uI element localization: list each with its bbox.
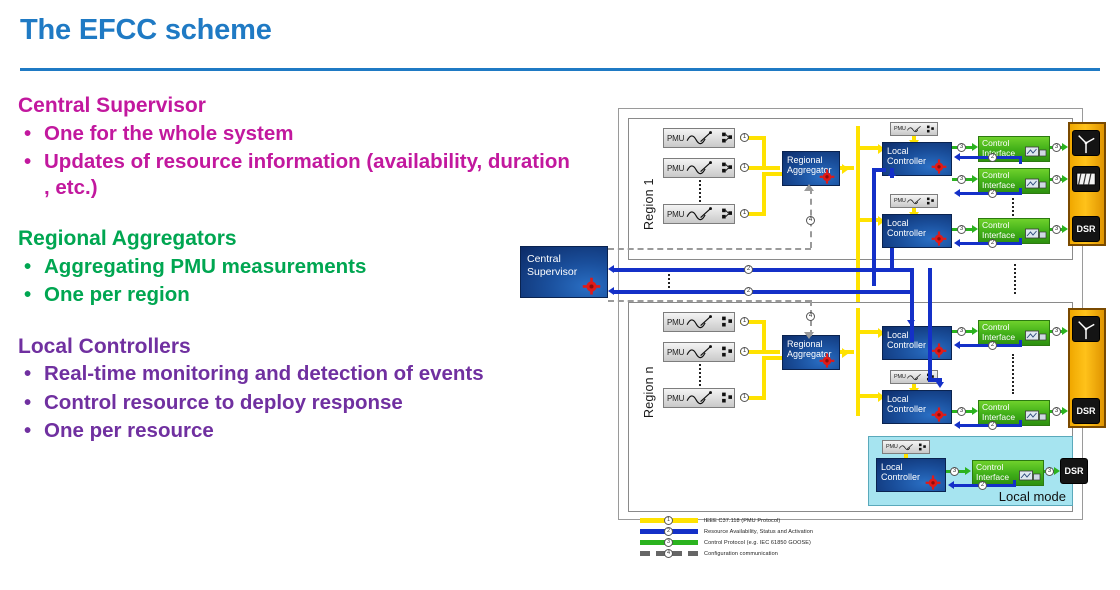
controller-uplink (872, 168, 886, 172)
gear-icon (582, 276, 601, 295)
waveform-icon (906, 123, 927, 135)
badge-control: 3 (957, 175, 966, 184)
legend-swatch-availability: 2 (640, 529, 698, 534)
supervisor-trunk (910, 268, 914, 342)
controller-label-line1: Local (887, 330, 951, 340)
interface-icon (1025, 178, 1047, 191)
bullet-list: • Aggregating PMU measurements • One per… (18, 254, 578, 308)
bullet-text: One per resource (44, 418, 578, 444)
section-local-controllers: Local Controllers • Real-time monitoring… (18, 335, 578, 444)
badge-control: 3 (1052, 327, 1061, 336)
controller-label-line1: Local (881, 462, 945, 472)
availability-arrow (948, 481, 954, 489)
legend-badge: 2 (664, 527, 673, 536)
resource-wind-turbine (1072, 130, 1100, 156)
config-wire-horizontal (608, 248, 811, 250)
interface-icon (1025, 330, 1047, 343)
legend-row: 4 Configuration communication (640, 549, 960, 558)
resource-dsr-local-mode: DSR (1060, 458, 1088, 484)
wind-turbine-icon (1074, 132, 1098, 154)
pmu-device-small: PMU (882, 440, 930, 454)
network-icon (926, 195, 937, 207)
yellow-branch (858, 394, 880, 398)
availability-wire (1019, 156, 1022, 164)
control-arrow (972, 327, 978, 335)
legend-label: Resource Availability, Status and Activa… (704, 529, 813, 535)
legend-label: Configuration communication (704, 551, 778, 557)
gear-icon (925, 474, 941, 490)
config-arrow-down (804, 332, 814, 339)
aggregator-label-line1: Regional (787, 339, 839, 349)
legend-badge: 3 (664, 538, 673, 547)
control-arrow (965, 467, 971, 475)
supervisor-bus-arrow (608, 265, 614, 273)
bullet-dot-icon: • (18, 418, 44, 444)
gear-icon (931, 342, 947, 358)
regional-aggregator-n[interactable]: Regional Aggregator (782, 335, 840, 370)
supervisor-bus-ellipsis (668, 274, 670, 288)
control-arrow (972, 175, 978, 183)
network-icon (721, 205, 734, 223)
badge-control: 3 (1045, 467, 1054, 476)
pmu-link-wire (762, 136, 766, 168)
badge-pmu-link: 1 (740, 163, 749, 172)
waveform-icon (684, 389, 721, 407)
region-ellipsis (1014, 264, 1016, 294)
controller-label-line1: Local (887, 218, 951, 228)
controller-label-line1: Local (887, 394, 951, 404)
local-controller-rn-1[interactable]: Local Controller (882, 326, 952, 360)
resource-dsr: DSR (1072, 398, 1100, 424)
availability-arrow (954, 421, 960, 429)
availability-wire (1019, 188, 1022, 195)
interface-icon (1025, 410, 1047, 423)
yellow-branch (858, 330, 880, 334)
local-mode-label: Local mode (999, 489, 1066, 504)
list-item: • Updates of resource information (avail… (18, 149, 578, 201)
legend-badge: 4 (664, 549, 673, 558)
content-text-column: Central Supervisor • One for the whole s… (18, 94, 578, 462)
supervisor-trunk-arrow (936, 382, 944, 388)
aggregator-out-wire (840, 166, 854, 170)
badge-control: 3 (957, 407, 966, 416)
pmu-device: PMU (663, 388, 735, 408)
bullet-dot-icon: • (18, 254, 44, 280)
waveform-icon (684, 343, 721, 361)
central-supervisor-line1: Central (527, 253, 607, 266)
waveform-icon (898, 441, 919, 453)
waveform-icon (684, 159, 721, 177)
pmu-device: PMU (663, 158, 735, 178)
availability-arrow (954, 341, 960, 349)
pmu-link-wire (762, 320, 766, 352)
interface-ellipsis (1012, 198, 1014, 216)
section-central-supervisor: Central Supervisor • One for the whole s… (18, 94, 578, 201)
bullet-text: One for the whole system (44, 121, 578, 147)
battery-icon (1074, 169, 1098, 189)
interface-ellipsis (1012, 354, 1014, 394)
control-arrow (972, 407, 978, 415)
interface-icon (1025, 146, 1047, 159)
availability-wire (1019, 420, 1022, 427)
pmu-label: PMU (894, 198, 906, 204)
bullet-dot-icon: • (18, 282, 44, 308)
waveform-icon (684, 129, 721, 147)
supervisor-bus-1 (614, 268, 914, 272)
local-controller-r1-2[interactable]: Local Controller (882, 214, 952, 248)
bullet-dot-icon: • (18, 390, 44, 416)
list-item: • Real-time monitoring and detection of … (18, 361, 578, 387)
legend-badge: 1 (664, 516, 673, 525)
list-item: • One per resource (18, 418, 578, 444)
gear-icon (931, 406, 947, 422)
waveform-icon (906, 195, 927, 207)
availability-wire (1013, 480, 1016, 487)
badge-availability: 2 (988, 189, 997, 198)
local-controller-rn-2[interactable]: Local Controller (882, 390, 952, 424)
badge-pmu-link: 1 (740, 209, 749, 218)
pmu-device: PMU (663, 342, 735, 362)
pmu-label: PMU (667, 134, 684, 143)
resource-wind-turbine (1072, 316, 1100, 342)
badge-configuration: 4 (806, 216, 815, 225)
controller-uplink (890, 168, 894, 178)
bullet-list: • One for the whole system • Updates of … (18, 121, 578, 202)
pmu-link-wire (762, 358, 766, 400)
supervisor-trunk-arrow (907, 320, 915, 326)
bullet-list: • Real-time monitoring and detection of … (18, 361, 578, 444)
central-supervisor-box[interactable]: Central Supervisor (520, 246, 608, 298)
interface-icon (1019, 470, 1041, 483)
yellow-branch (858, 146, 880, 150)
list-item: • One for the whole system (18, 121, 578, 147)
legend-swatch-control-protocol: 3 (640, 540, 698, 545)
title-divider (20, 68, 1100, 71)
bullet-text: Aggregating PMU measurements (44, 254, 578, 280)
supervisor-bus-arrow (608, 287, 614, 295)
aggregator-label-line1: Regional (787, 155, 839, 165)
pmu-label: PMU (667, 394, 684, 403)
interface-icon (1025, 228, 1047, 241)
controller-label-line1: Local (887, 146, 951, 156)
legend-row: 2 Resource Availability, Status and Acti… (640, 527, 960, 536)
efcc-architecture-diagram: Region 1 PMU PMU PMU (520, 108, 1105, 568)
legend-swatch-configuration: 4 (640, 551, 698, 556)
badge-control: 3 (1052, 225, 1061, 234)
legend-label: Control Protocol (e.g. IEC 61850 GOOSE) (704, 540, 811, 546)
pmu-link-wire (762, 172, 782, 176)
pmu-label: PMU (886, 444, 898, 450)
badge-availability: 2 (744, 287, 753, 296)
resource-battery (1072, 166, 1100, 192)
legend-row: 3 Control Protocol (e.g. IEC 61850 GOOSE… (640, 538, 960, 547)
waveform-icon (906, 371, 927, 383)
pmu-ellipsis (699, 364, 701, 386)
supervisor-trunk (928, 268, 932, 380)
bullet-dot-icon: • (18, 121, 44, 147)
pmu-label: PMU (667, 210, 684, 219)
resource-dsr: DSR (1072, 216, 1100, 242)
gear-icon (931, 230, 947, 246)
badge-availability: 2 (744, 265, 753, 274)
availability-arrow (954, 153, 960, 161)
badge-control: 3 (957, 143, 966, 152)
local-controller-local-mode[interactable]: Local Controller (876, 458, 946, 492)
yellow-bus (856, 308, 860, 416)
network-icon (926, 123, 937, 135)
legend-row: 1 IEEE C37.118 (PMU Protocol) (640, 516, 960, 525)
network-icon (721, 343, 734, 361)
wind-turbine-icon (1074, 318, 1098, 340)
badge-control: 3 (1052, 143, 1061, 152)
badge-pmu-link: 1 (740, 347, 749, 356)
badge-control: 3 (950, 467, 959, 476)
bullet-text: One per region (44, 282, 578, 308)
gear-icon (819, 168, 835, 184)
regional-aggregator-1[interactable]: Regional Aggregator (782, 151, 840, 186)
list-item: • One per region (18, 282, 578, 308)
badge-control: 3 (1052, 407, 1061, 416)
badge-configuration: 4 (806, 312, 815, 321)
availability-arrow (954, 239, 960, 247)
badge-availability: 2 (988, 153, 997, 162)
page-title: The EFCC scheme (20, 14, 272, 47)
availability-arrow (954, 189, 960, 197)
gear-icon (819, 352, 835, 368)
region-1-label: Region 1 (642, 178, 656, 230)
control-arrow (972, 143, 978, 151)
section-heading: Central Supervisor (18, 94, 578, 119)
list-item: • Aggregating PMU measurements (18, 254, 578, 280)
bullet-text: Real-time monitoring and detection of ev… (44, 361, 578, 387)
config-arrow-up (804, 184, 814, 191)
badge-control: 3 (957, 225, 966, 234)
yellow-branch (858, 218, 880, 222)
yellow-bus (856, 126, 860, 308)
bullet-dot-icon: • (18, 361, 44, 387)
badge-availability: 2 (978, 481, 987, 490)
pmu-link-wire (762, 174, 766, 216)
region-n-label: Region n (642, 366, 656, 418)
network-icon (721, 129, 734, 147)
badge-pmu-link: 1 (740, 317, 749, 326)
badge-availability: 2 (988, 421, 997, 430)
bullet-text: Control resource to deploy response (44, 390, 578, 416)
badge-availability: 2 (988, 341, 997, 350)
badge-control: 3 (957, 327, 966, 336)
pmu-device: PMU (663, 312, 735, 332)
list-item: • Control resource to deploy response (18, 390, 578, 416)
supervisor-trunk (928, 378, 942, 382)
pmu-device: PMU (663, 128, 735, 148)
pmu-ellipsis (699, 180, 701, 202)
legend-swatch-pmu-protocol: 1 (640, 518, 698, 523)
section-heading: Local Controllers (18, 335, 578, 360)
network-icon (721, 389, 734, 407)
availability-wire (1019, 238, 1022, 245)
network-icon (918, 441, 929, 453)
section-regional-aggregators: Regional Aggregators • Aggregating PMU m… (18, 227, 578, 308)
bullet-dot-icon: • (18, 149, 44, 201)
legend: 1 IEEE C37.118 (PMU Protocol) 2 Resource… (640, 516, 960, 560)
pmu-link-wire (762, 356, 782, 360)
pmu-label: PMU (667, 164, 684, 173)
badge-availability: 2 (988, 239, 997, 248)
pmu-device-small: PMU (890, 194, 938, 208)
supervisor-bus-2 (614, 290, 914, 294)
badge-pmu-link: 1 (740, 393, 749, 402)
waveform-icon (684, 205, 721, 223)
pmu-label: PMU (667, 318, 684, 327)
aggregator-out-wire (840, 350, 854, 354)
pmu-label: PMU (894, 374, 906, 380)
availability-wire (1019, 340, 1022, 347)
badge-pmu-link: 1 (740, 133, 749, 142)
network-icon (721, 159, 734, 177)
legend-label: IEEE C37.118 (PMU Protocol) (704, 518, 780, 524)
badge-control: 3 (1052, 175, 1061, 184)
pmu-device: PMU (663, 204, 735, 224)
pmu-label: PMU (894, 126, 906, 132)
pmu-label: PMU (667, 348, 684, 357)
waveform-icon (684, 313, 721, 331)
network-icon (721, 313, 734, 331)
control-arrow (972, 225, 978, 233)
pmu-device-small: PMU (890, 122, 938, 136)
section-heading: Regional Aggregators (18, 227, 578, 252)
bullet-text: Updates of resource information (availab… (44, 149, 578, 201)
gear-icon (931, 158, 947, 174)
